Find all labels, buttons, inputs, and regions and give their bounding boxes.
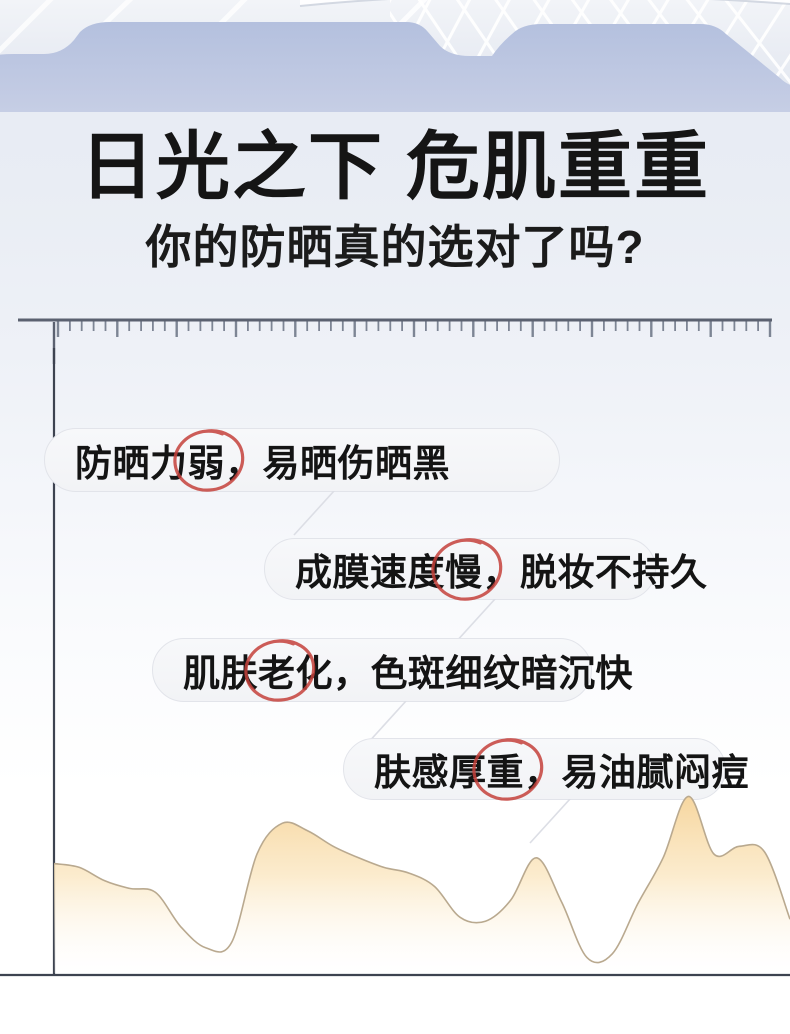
message-bubble: 防晒力弱，易晒伤晒黑 [44, 428, 560, 492]
banner-blue-shape [0, 0, 790, 112]
promo-poster: 日光之下危肌重重 你的防晒真的选对了吗? 防晒力弱，易晒伤晒黑成膜速度慢，脱妆不… [0, 0, 790, 1034]
message-bubble: 成膜速度慢，脱妆不持久 [264, 538, 656, 600]
bubble-text: 防晒力弱，易晒伤晒黑 [75, 433, 450, 487]
page-subtitle: 你的防晒真的选对了吗? [0, 224, 790, 270]
message-bubble: 肌肤老化，色斑细纹暗沉快 [152, 638, 592, 702]
bubble-text: 肤感厚重，易油腻闷痘 [374, 742, 749, 796]
bubble-text: 成膜速度慢，脱妆不持久 [295, 542, 708, 596]
message-bubble: 肤感厚重，易油腻闷痘 [343, 738, 726, 800]
page-title: 日光之下危肌重重 [0, 108, 790, 204]
decorative-header-banner [0, 0, 790, 112]
mountain-area-chart [0, 775, 790, 975]
bubble-text: 肌肤老化，色斑细纹暗沉快 [183, 643, 633, 697]
title-part-2: 危肌重重 [406, 125, 710, 208]
headline-block: 日光之下危肌重重 你的防晒真的选对了吗? [0, 108, 790, 270]
title-part-1: 日光之下 [80, 125, 384, 208]
